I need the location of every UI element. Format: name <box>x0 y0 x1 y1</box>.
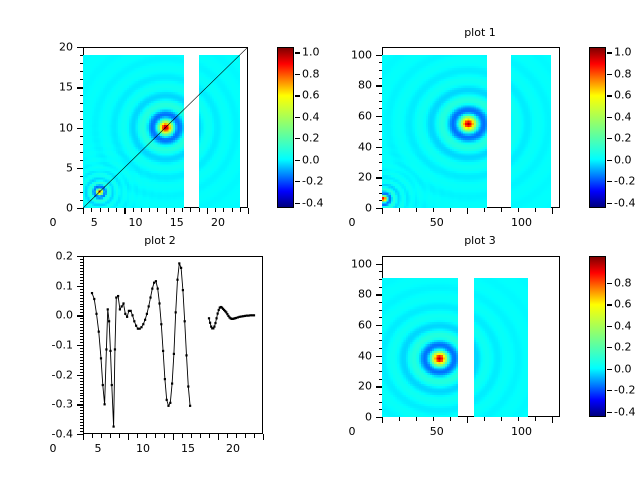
data-point-marker <box>121 305 123 307</box>
x-tick-major <box>552 417 553 423</box>
y-tick-minor <box>379 70 383 71</box>
colorbar-tick-label: 0.0 <box>614 363 632 374</box>
y-tick-minor <box>379 170 383 171</box>
colorbar-tick <box>295 138 300 139</box>
data-point-marker <box>146 313 148 315</box>
x-tick-major <box>83 434 84 440</box>
panel-bottom-right-plot-area <box>382 256 560 417</box>
data-point-marker <box>167 405 169 407</box>
y-tick-minor <box>80 422 84 423</box>
data-point-marker <box>253 314 255 316</box>
heatmap-tile <box>474 278 528 417</box>
y-tick-minor <box>80 103 84 104</box>
x-tick-minor <box>433 417 434 421</box>
y-tick-minor <box>80 372 84 373</box>
y-tick-minor <box>379 62 383 63</box>
y-tick-label: 100 <box>312 258 372 269</box>
y-tick-minor <box>379 409 383 410</box>
x-tick-minor <box>450 417 451 421</box>
y-tick-minor <box>80 295 84 296</box>
y-tick-minor <box>80 176 84 177</box>
x-tick-label: 20 <box>188 217 248 228</box>
panel-bottom-right: plot 3 0.80.60.40.20.0-0.2-0.4 020406080… <box>320 240 640 480</box>
data-point-marker <box>126 316 128 318</box>
x-tick-minor <box>501 417 502 421</box>
x-tick-minor <box>149 208 150 212</box>
y-tick-minor <box>379 363 383 364</box>
data-point-marker <box>93 298 95 300</box>
data-point-marker <box>185 354 187 356</box>
y-tick-minor <box>80 384 84 385</box>
data-point-marker <box>208 317 210 319</box>
data-point-marker <box>166 399 168 401</box>
colorbar-tick <box>607 369 612 370</box>
line-series-canvas <box>83 256 263 434</box>
x-tick-minor <box>191 434 192 438</box>
y-tick-label: 60 <box>312 320 372 331</box>
y-tick-minor <box>80 327 84 328</box>
colorbar-tick-label: 0.6 <box>614 90 632 101</box>
y-tick-label: 20 <box>312 381 372 392</box>
y-tick-minor <box>379 185 383 186</box>
colorbar-tick <box>607 203 612 204</box>
y-tick-major <box>376 325 382 326</box>
x-tick-minor <box>227 434 228 438</box>
data-point-marker <box>149 296 151 298</box>
x-tick-minor <box>133 208 134 212</box>
y-tick-minor <box>80 398 84 399</box>
y-tick-minor <box>80 63 84 64</box>
data-point-marker <box>175 311 177 313</box>
data-point-marker <box>142 323 144 325</box>
y-tick-minor <box>80 381 84 382</box>
y-tick-label: 60 <box>312 111 372 122</box>
x-tick-major <box>128 434 129 440</box>
y-tick-minor <box>80 298 84 299</box>
y-tick-minor <box>80 428 84 429</box>
y-tick-minor <box>80 333 84 334</box>
colorbar-tick <box>607 52 612 53</box>
figure-canvas: 1.00.80.60.40.20.0-0.2-0.4 0510152005101… <box>0 0 640 480</box>
y-tick-minor <box>379 348 383 349</box>
data-point-marker <box>217 312 219 314</box>
y-tick-label: -0.4 <box>13 429 73 440</box>
colorbar-tick <box>607 181 612 182</box>
y-tick-minor <box>379 310 383 311</box>
colorbar-tick-label: -0.4 <box>614 197 635 208</box>
y-tick-minor <box>80 387 84 388</box>
y-tick-minor <box>379 131 383 132</box>
colorbar-tick-label: 0.6 <box>614 299 632 310</box>
x-tick-minor <box>484 208 485 212</box>
y-tick-minor <box>379 333 383 334</box>
x-tick-minor <box>209 434 210 438</box>
y-tick-label: -0.2 <box>13 369 73 380</box>
x-tick-major <box>83 208 84 214</box>
colorbar-tick-label: 1.0 <box>614 47 632 58</box>
colorbar-tick-label: -0.4 <box>614 406 635 417</box>
data-point-marker <box>148 305 150 307</box>
y-tick-minor <box>80 136 84 137</box>
data-point-marker <box>104 403 106 405</box>
x-tick-minor <box>254 434 255 438</box>
y-tick-minor <box>80 390 84 391</box>
panel-top-left: 1.00.80.60.40.20.0-0.2-0.4 0510152005101… <box>0 0 320 240</box>
y-tick-minor <box>80 410 84 411</box>
colorbar-tick-label: 0.0 <box>302 154 320 165</box>
y-tick-minor <box>80 95 84 96</box>
panel-bottom-left-title: plot 2 <box>0 234 320 247</box>
data-point-marker <box>124 313 126 315</box>
y-tick-minor <box>80 119 84 120</box>
y-tick-minor <box>80 71 84 72</box>
x-tick-minor <box>450 208 451 212</box>
colorbar-tick <box>607 160 612 161</box>
y-tick-minor <box>80 274 84 275</box>
y-tick-minor <box>80 79 84 80</box>
y-tick-label: 80 <box>312 80 372 91</box>
colorbar-tick <box>607 117 612 118</box>
data-point-marker <box>182 289 184 291</box>
y-tick-minor <box>80 425 84 426</box>
y-tick-major <box>77 87 83 88</box>
colorbar-tick-label: 0.4 <box>614 320 632 331</box>
data-point-marker <box>102 384 104 386</box>
overlay-diagonal-line <box>83 47 248 208</box>
y-tick-minor <box>80 55 84 56</box>
y-tick-minor <box>379 108 383 109</box>
data-point-marker <box>107 308 109 310</box>
y-tick-minor <box>80 360 84 361</box>
x-tick-label: 100 <box>492 426 552 437</box>
y-tick-major <box>376 116 382 117</box>
y-tick-minor <box>80 265 84 266</box>
data-point-marker <box>131 314 133 316</box>
y-tick-label: 10 <box>13 122 73 133</box>
y-tick-minor <box>80 184 84 185</box>
x-tick-minor <box>535 208 536 212</box>
data-point-marker <box>108 320 110 322</box>
x-tick-minor <box>535 417 536 421</box>
colorbar-tick <box>607 390 612 391</box>
colorbar-tick-label: 0.6 <box>302 90 320 101</box>
colorbar-tick <box>295 181 300 182</box>
panel-bottom-right-title: plot 3 <box>320 234 640 247</box>
data-point-marker <box>114 348 116 350</box>
y-tick-label: 40 <box>312 350 372 361</box>
data-point-marker <box>180 267 182 269</box>
x-tick-minor <box>174 208 175 212</box>
y-tick-minor <box>80 366 84 367</box>
colorbar-tick-label: 0.8 <box>614 277 632 288</box>
colorbar-gradient <box>590 48 605 207</box>
y-tick-label: 100 <box>312 49 372 60</box>
y-tick-minor <box>379 139 383 140</box>
x-tick-minor <box>236 434 237 438</box>
y-tick-minor <box>80 354 84 355</box>
y-tick-minor <box>80 309 84 310</box>
y-tick-minor <box>80 416 84 417</box>
colorbar-tick <box>295 160 300 161</box>
y-tick-minor <box>80 144 84 145</box>
x-tick-major <box>166 208 167 214</box>
x-tick-major <box>207 208 208 214</box>
x-tick-minor <box>101 434 102 438</box>
y-tick-minor <box>80 431 84 432</box>
heatmap-tile <box>511 55 552 208</box>
data-point-marker <box>109 350 111 352</box>
colorbar-gradient <box>590 257 605 416</box>
colorbar-tick <box>295 117 300 118</box>
y-tick-minor <box>80 160 84 161</box>
data-point-marker <box>135 325 137 327</box>
x-tick-label: 20 <box>203 443 263 454</box>
colorbar-gradient <box>278 48 293 207</box>
data-point-marker <box>100 357 102 359</box>
y-tick-minor <box>379 279 383 280</box>
colorbar-tick-label: 0.2 <box>614 342 632 353</box>
y-tick-minor <box>80 111 84 112</box>
panel-top-right-title: plot 1 <box>320 26 640 39</box>
panel-bottom-right-colorbar: 0.80.60.40.20.0-0.2-0.4 <box>589 256 606 417</box>
x-tick-minor <box>141 208 142 212</box>
panel-top-right-plot-area <box>382 47 560 208</box>
data-point-marker <box>122 302 124 304</box>
y-tick-label: 0.2 <box>13 251 73 262</box>
x-tick-minor <box>92 434 93 438</box>
y-tick-major <box>77 47 83 48</box>
y-tick-major <box>376 356 382 357</box>
y-tick-minor <box>80 306 84 307</box>
y-tick-minor <box>379 78 383 79</box>
y-tick-major <box>77 256 83 257</box>
x-tick-major <box>218 434 219 440</box>
y-tick-label: -0.1 <box>13 340 73 351</box>
x-tick-major <box>124 208 125 214</box>
x-tick-minor <box>182 208 183 212</box>
x-tick-minor <box>100 208 101 212</box>
y-tick-minor <box>80 280 84 281</box>
y-tick-minor <box>80 292 84 293</box>
y-tick-minor <box>80 378 84 379</box>
y-tick-major <box>376 85 382 86</box>
colorbar-tick <box>607 95 612 96</box>
data-point-marker <box>187 385 189 387</box>
x-tick-minor <box>119 434 120 438</box>
y-tick-label: 40 <box>312 141 372 152</box>
y-tick-minor <box>80 363 84 364</box>
y-tick-minor <box>80 321 84 322</box>
data-point-marker <box>111 384 113 386</box>
y-tick-label: 0 <box>312 412 372 423</box>
y-tick-minor <box>80 369 84 370</box>
heatmap-image <box>382 278 458 417</box>
y-tick-major <box>77 375 83 376</box>
y-tick-major <box>376 294 382 295</box>
x-tick-minor <box>518 417 519 421</box>
data-point-marker <box>214 322 216 324</box>
y-tick-label: 5 <box>13 162 73 173</box>
x-tick-minor <box>518 208 519 212</box>
data-point-marker <box>178 262 180 264</box>
colorbar-tick <box>607 283 612 284</box>
x-tick-minor <box>399 208 400 212</box>
y-tick-label: 80 <box>312 289 372 300</box>
y-tick-minor <box>80 339 84 340</box>
x-tick-minor <box>137 434 138 438</box>
y-tick-minor <box>379 402 383 403</box>
heatmap-tile <box>382 55 487 208</box>
x-tick-minor <box>155 434 156 438</box>
y-tick-label: 20 <box>13 42 73 53</box>
panel-top-right-colorbar: 1.00.80.60.40.20.0-0.2-0.4 <box>589 47 606 208</box>
x-tick-label: 50 <box>407 426 467 437</box>
heatmap-image <box>474 278 528 417</box>
x-tick-minor <box>190 208 191 212</box>
colorbar-gradient-box <box>589 256 606 417</box>
data-point-marker <box>162 350 164 352</box>
y-tick-minor <box>80 259 84 260</box>
x-tick-minor <box>416 417 417 421</box>
data-point-marker <box>130 310 132 312</box>
data-point-marker <box>218 309 220 311</box>
data-point-marker <box>155 280 157 282</box>
x-tick-label: 0 <box>322 217 382 228</box>
x-tick-minor <box>199 208 200 212</box>
y-tick-minor <box>80 348 84 349</box>
x-tick-minor <box>146 434 147 438</box>
data-point-marker <box>105 348 107 350</box>
x-tick-minor <box>484 417 485 421</box>
colorbar-tick-label: 0.8 <box>302 68 320 79</box>
data-point-marker <box>140 326 142 328</box>
y-tick-minor <box>80 318 84 319</box>
line-path <box>92 263 190 426</box>
data-point-marker <box>160 323 162 325</box>
colorbar-tick <box>607 74 612 75</box>
data-point-marker <box>98 331 100 333</box>
panel-top-left-colorbar: 1.00.80.60.40.20.0-0.2-0.4 <box>277 47 294 208</box>
data-point-marker <box>158 302 160 304</box>
data-point-marker <box>133 320 135 322</box>
panel-top-right: plot 1 1.00.80.60.40.20.0-0.2-0.4 020406… <box>320 0 640 240</box>
colorbar-tick-label: -0.2 <box>614 385 635 396</box>
y-tick-major <box>77 128 83 129</box>
x-tick-label: 100 <box>492 217 552 228</box>
x-tick-minor <box>200 434 201 438</box>
x-tick-minor <box>215 208 216 212</box>
data-point-marker <box>144 319 146 321</box>
y-tick-label: 0.1 <box>13 280 73 291</box>
y-tick-minor <box>80 395 84 396</box>
colorbar-tick <box>607 326 612 327</box>
colorbar-tick <box>295 52 300 53</box>
panel-bottom-left: plot 2 0.20.10.0-0.1-0.2-0.3-0.405101520 <box>0 240 320 480</box>
y-tick-label: 0 <box>13 203 73 214</box>
y-tick-minor <box>379 379 383 380</box>
y-tick-minor <box>379 200 383 201</box>
colorbar-tick <box>607 412 612 413</box>
y-tick-minor <box>80 357 84 358</box>
x-tick-minor <box>91 208 92 212</box>
x-tick-minor <box>108 208 109 212</box>
y-tick-minor <box>80 271 84 272</box>
colorbar-gradient-box <box>589 47 606 208</box>
x-tick-minor <box>433 208 434 212</box>
y-tick-minor <box>80 289 84 290</box>
y-tick-label: -0.3 <box>13 399 73 410</box>
y-tick-minor <box>379 124 383 125</box>
y-tick-major <box>376 55 382 56</box>
colorbar-gradient-box <box>277 47 294 208</box>
data-point-marker <box>176 279 178 281</box>
x-tick-minor <box>110 434 111 438</box>
y-tick-minor <box>80 324 84 325</box>
y-tick-minor <box>379 162 383 163</box>
x-tick-minor <box>182 434 183 438</box>
x-tick-major <box>467 208 468 214</box>
data-point-marker <box>213 326 215 328</box>
y-tick-minor <box>80 393 84 394</box>
colorbar-tick-label: 0.0 <box>614 154 632 165</box>
x-tick-minor <box>157 208 158 212</box>
colorbar-tick <box>607 138 612 139</box>
y-tick-label: 0.0 <box>13 310 73 321</box>
y-tick-minor <box>80 312 84 313</box>
x-tick-major <box>552 208 553 214</box>
colorbar-tick <box>295 95 300 96</box>
y-tick-minor <box>379 101 383 102</box>
y-tick-minor <box>80 283 84 284</box>
y-tick-major <box>376 147 382 148</box>
y-tick-minor <box>80 351 84 352</box>
y-tick-major <box>77 168 83 169</box>
data-point-marker <box>169 402 171 404</box>
y-tick-major <box>376 386 382 387</box>
x-tick-minor <box>240 208 241 212</box>
y-tick-major <box>77 286 83 287</box>
data-point-marker <box>113 425 115 427</box>
y-tick-minor <box>80 419 84 420</box>
y-tick-major <box>376 264 382 265</box>
y-tick-minor <box>80 200 84 201</box>
colorbar-tick <box>295 203 300 204</box>
y-tick-major <box>77 345 83 346</box>
y-tick-minor <box>379 193 383 194</box>
colorbar-tick-label: 0.2 <box>614 133 632 144</box>
x-tick-minor <box>232 208 233 212</box>
x-tick-label: 50 <box>407 217 467 228</box>
colorbar-tick-label: -0.2 <box>614 176 635 187</box>
panel-bottom-left-plot-area <box>83 256 263 434</box>
x-tick-minor <box>416 208 417 212</box>
y-tick-label: 20 <box>312 172 372 183</box>
x-tick-minor <box>399 417 400 421</box>
y-tick-minor <box>80 301 84 302</box>
x-tick-minor <box>164 434 165 438</box>
y-tick-minor <box>80 413 84 414</box>
y-tick-minor <box>379 287 383 288</box>
y-tick-minor <box>80 407 84 408</box>
y-tick-major <box>77 315 83 316</box>
y-tick-minor <box>379 394 383 395</box>
colorbar-tick-label: 0.4 <box>614 111 632 122</box>
heatmap-image <box>382 55 487 208</box>
y-tick-minor <box>80 342 84 343</box>
y-tick-minor <box>80 304 84 305</box>
y-tick-minor <box>80 152 84 153</box>
y-tick-minor <box>379 371 383 372</box>
